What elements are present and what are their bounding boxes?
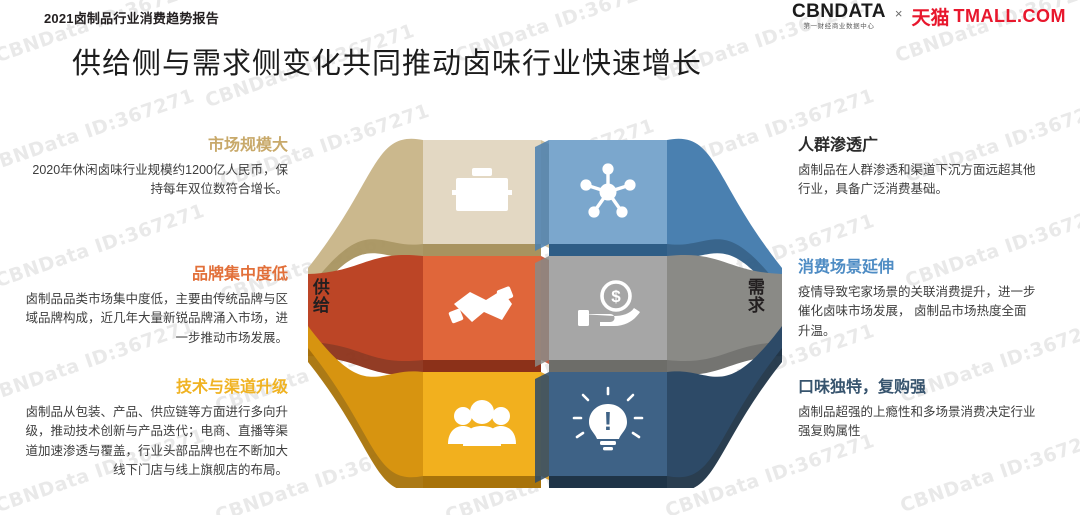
supply-point-body: 卤制品从包装、产品、供应链等方面进行多向升级，推动技术创新与产品迭代；电商、直播… [20,403,288,481]
demand-point-body: 疫情导致宅家场景的关联消费提升，进一步催化卤味市场发展， 卤制品市场热度全面升温… [798,283,1038,341]
logo-separator: × [895,6,903,26]
supply-point-body: 卤制品品类市场集中度低，主要由传统品牌与区域品牌构成，近几年大量新锐品牌涌入市场… [20,290,288,348]
demand-point-title: 人群渗透广 [798,136,1038,156]
page-header: 2021卤制品行业消费趋势报告 CBNDATA 第一财经商业数据中心 × 天猫 … [0,0,1080,34]
svg-text:$: $ [611,287,621,306]
page-title: 供给侧与需求侧变化共同推动卤味行业快速增长 [72,40,702,82]
supply-point-body: 2020年休闲卤味行业规模约1200亿人民币，保持每年双位数符合增长。 [20,161,288,200]
report-title: 2021卤制品行业消费趋势报告 [44,8,219,27]
tmall-logo-en: TMALL.COM [954,6,1066,27]
demand-point-title: 消费场景延伸 [798,258,1038,278]
demand-point-3: 口味独特，复购强卤制品超强的上瘾性和多场景消费决定行业强复购属性 [798,378,1038,442]
cbndata-wordmark: CBNDATA [792,1,886,22]
tmall-logo: 天猫 TMALL.COM [912,3,1067,30]
demand-point-1: 人群渗透广卤制品在人群渗透和渠道下沉方面远超其他行业，具备广泛消费基础。 [798,136,1038,200]
demand-point-body: 卤制品在人群渗透和渠道下沉方面远超其他行业，具备广泛消费基础。 [798,161,1038,200]
demand-point-title: 口味独特，复购强 [798,378,1038,398]
diagram-tile-demand-2[interactable]: $ [535,256,667,374]
tmall-logo-cn: 天猫 [912,3,950,30]
supply-demand-diagram: $! [300,128,790,488]
axis-label-supply: 供给 [310,278,328,314]
demand-point-body: 卤制品超强的上瘾性和多场景消费决定行业强复购属性 [798,403,1038,442]
supply-point-2: 品牌集中度低卤制品品类市场集中度低，主要由传统品牌与区域品牌构成，近几年大量新锐… [20,265,288,348]
diagram-tile-demand-1[interactable] [535,140,667,258]
supply-point-title: 技术与渠道升级 [20,378,288,398]
supply-point-title: 市场规模大 [20,136,288,156]
cbndata-logo-subtitle: 第一财经商业数据中心 [803,24,874,31]
svg-text:!: ! [604,406,613,436]
cbndata-logo: CBNDATA 第一财经商业数据中心 [792,2,886,31]
cbndata-logo-text: CBNDATA [792,2,886,21]
supply-point-title: 品牌集中度低 [20,265,288,285]
diagram-tile-demand-3[interactable]: ! [535,372,667,488]
axis-label-demand: 需求 [745,278,763,314]
logo-bar: CBNDATA 第一财经商业数据中心 × 天猫 TMALL.COM [792,2,1066,31]
supply-point-3: 技术与渠道升级卤制品从包装、产品、供应链等方面进行多向升级，推动技术创新与产品迭… [20,378,288,481]
demand-point-2: 消费场景延伸疫情导致宅家场景的关联消费提升，进一步催化卤味市场发展， 卤制品市场… [798,258,1038,341]
supply-point-1: 市场规模大2020年休闲卤味行业规模约1200亿人民币，保持每年双位数符合增长。 [20,136,288,200]
